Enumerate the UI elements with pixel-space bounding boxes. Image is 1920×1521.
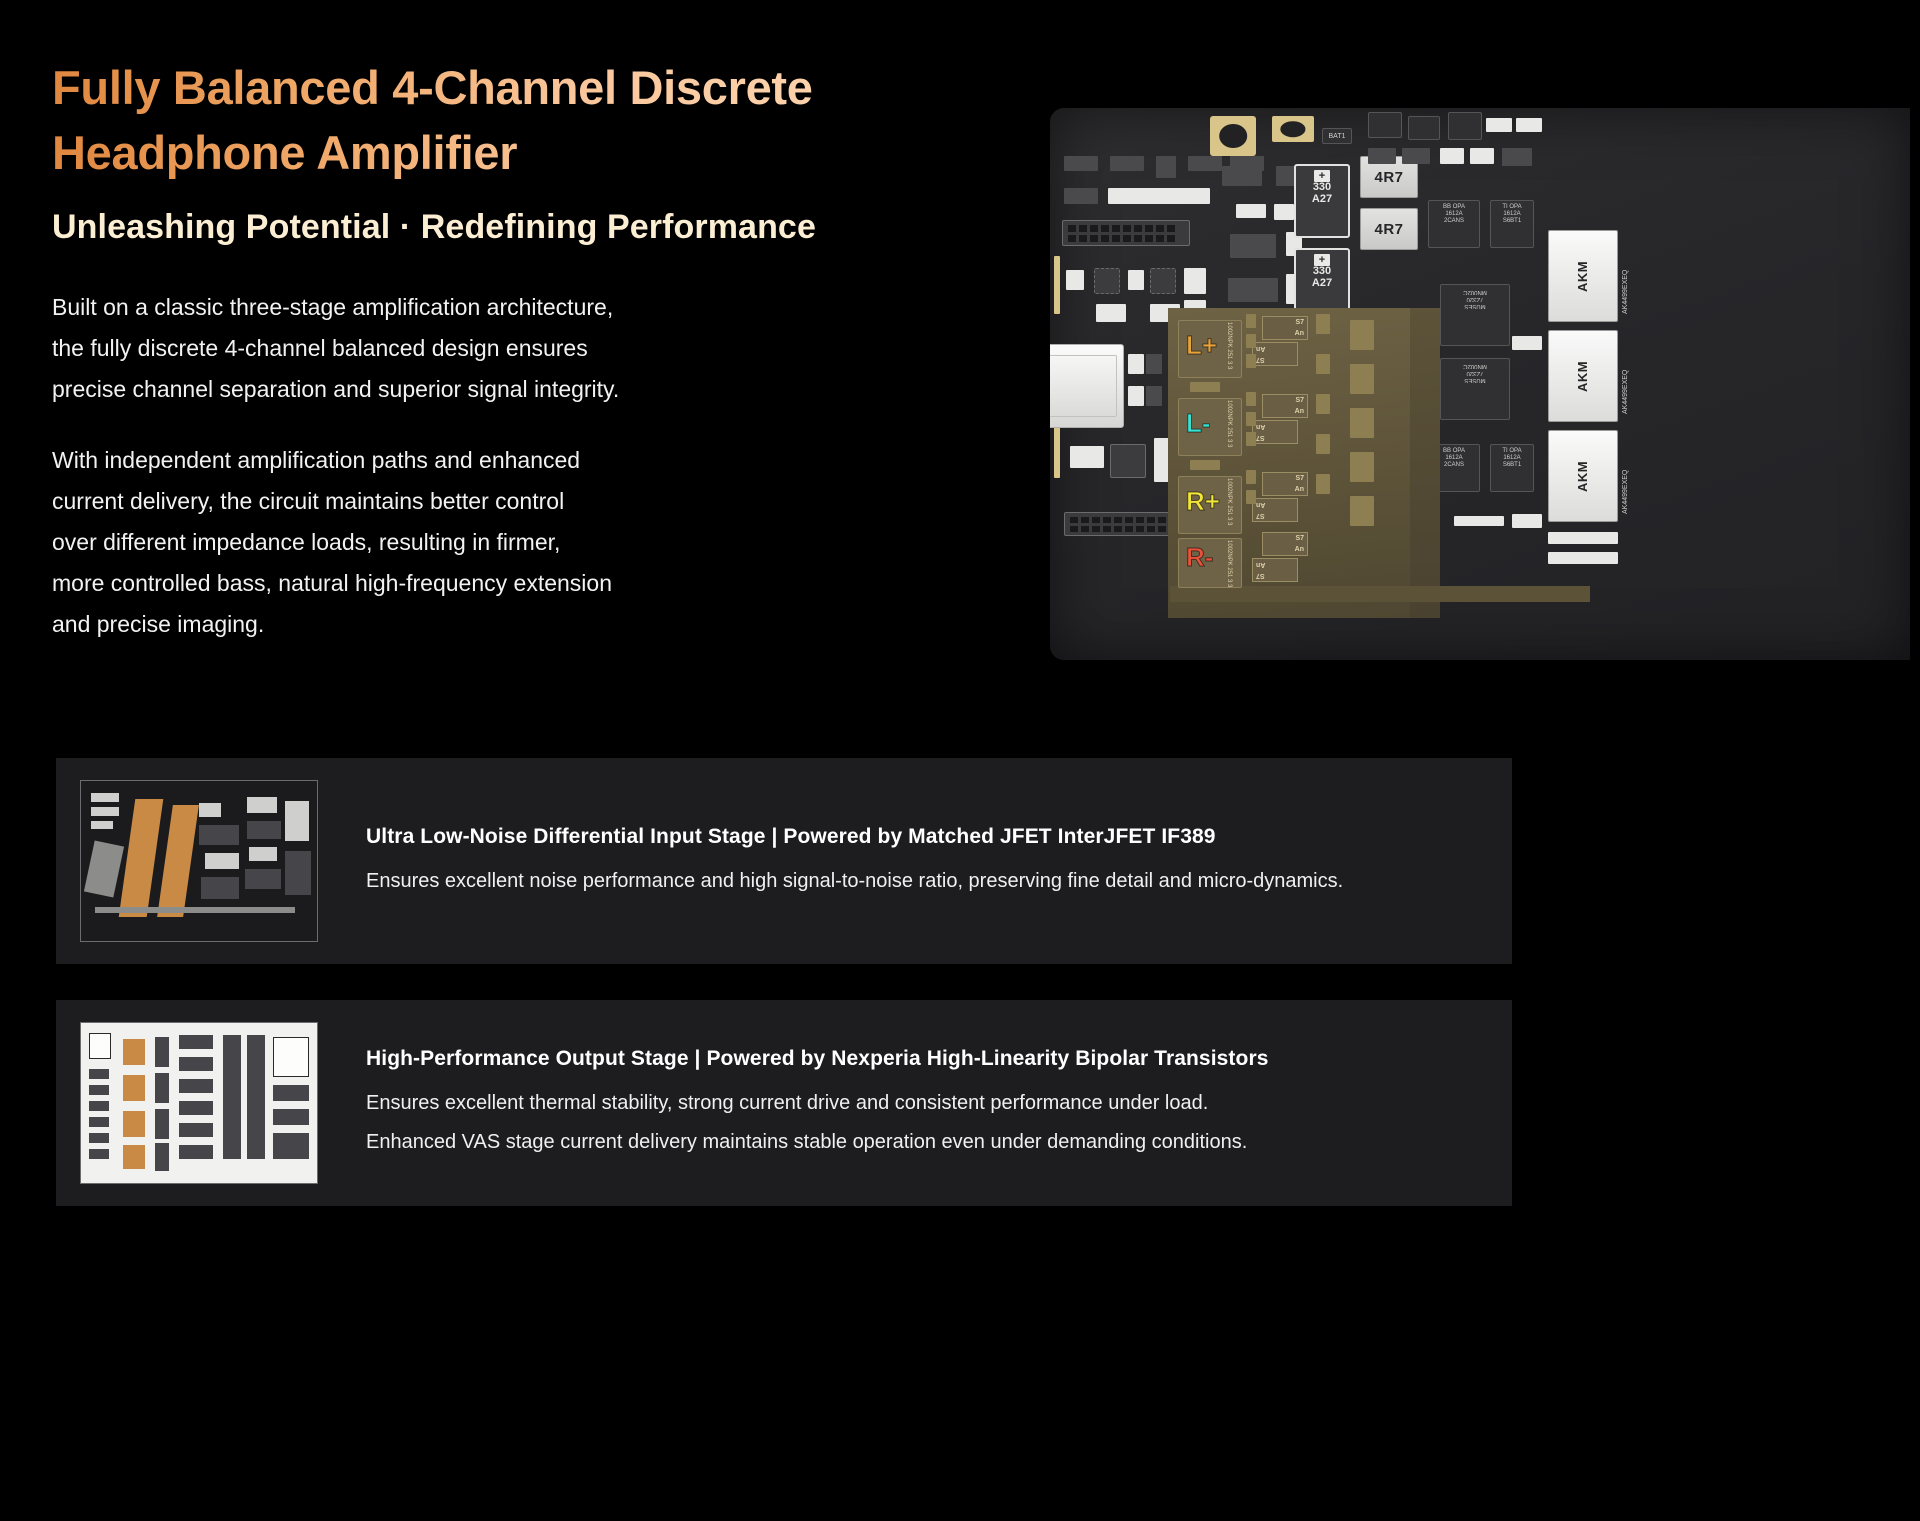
smd-component [1064,156,1098,171]
smd-passive [1246,334,1256,348]
smd-component [1470,148,1494,164]
battery-connector: BAT1 [1322,128,1352,144]
board-edge-connector [1512,514,1542,528]
smd-passive [1190,382,1220,392]
smd-passive [1246,314,1256,328]
dac-chip-akm: AKM [1548,330,1618,422]
smd-component [1128,354,1144,374]
amp-transistor-block: S7 An [1252,498,1298,522]
smd-component [1110,156,1144,171]
smd-passive [1246,470,1256,484]
capacitor-polarity-icon: + [1314,170,1330,182]
amp-block-top: S7 [1295,535,1304,542]
inductor: 4R7 [1360,208,1418,250]
capacitor-value: 330 [1296,266,1348,278]
smd-component [1440,148,1464,164]
opamp-chip: BB OPA 1612A 2CANS [1428,200,1480,248]
usbc-connector [1050,344,1124,428]
page-title: Fully Balanced 4-Channel Discrete Headph… [52,56,972,186]
smd-component [1146,354,1162,374]
hero-paragraph-1: Built on a classic three-stage amplifica… [52,287,972,410]
feature-card-line: Ensures excellent thermal stability, str… [366,1087,1269,1120]
smd-component [1516,118,1542,132]
muses-line2: 7Z320 [1441,295,1509,302]
amp-transistor-block: S7 An [1262,316,1308,340]
amp-block-top: S7 [1295,319,1304,326]
opamp-line1: BB OPA [1429,204,1479,211]
opamp-line2: 1612A [1491,211,1533,218]
muses-line1: MN002C [1441,362,1509,369]
amp-block-top: S7 [1256,572,1265,579]
feature-card-title: High-Performance Output Stage | Powered … [366,1047,1269,1071]
amp-block-top: S7 [1256,512,1265,519]
ic-chip [1094,268,1120,294]
board-edge-connector [1548,532,1618,544]
muses-line2: 7Z320 [1441,369,1509,376]
feature-card-input-stage: Ultra Low-Noise Differential Input Stage… [56,758,1512,964]
channel-label-l-minus: L- [1186,408,1211,439]
gold-trace [1054,256,1060,314]
muses-line1: MN002C [1441,288,1509,295]
transistor [1222,166,1262,186]
opamp-line3: S6BT1 [1491,462,1533,469]
dac-chip-akm: AKM [1548,230,1618,322]
dac-part-number: AK4499EXEQ [1622,338,1636,414]
smd-component [1486,118,1512,132]
capacitor-code: A27 [1296,278,1348,290]
dac-brand: AKM [1575,360,1590,391]
channel-chip-marking: 1002NPK 251 3 3 [1226,540,1232,587]
smd-component [1128,386,1144,406]
hero-description: Built on a classic three-stage amplifica… [52,287,972,645]
capacitor: + 330 A27 [1294,164,1350,238]
smd-component [1236,204,1266,218]
amp-block-top: S7 [1256,434,1265,441]
capacitor-polarity-icon: + [1314,254,1330,266]
feature-card-output-stage: High-Performance Output Stage | Powered … [56,1000,1512,1206]
smd-passive [1350,364,1374,394]
amp-block-bottom: An [1256,501,1265,508]
dac-part-number: AK4499EXEQ [1622,438,1636,514]
smd-passive [1190,460,1220,470]
ic-chip [1408,116,1440,140]
feature-cards: Ultra Low-Noise Differential Input Stage… [56,758,1920,1206]
channel-label-r-minus: R- [1186,542,1213,573]
amp-transistor-block: S7 An [1252,558,1298,582]
amp-block-bottom: An [1256,561,1265,568]
smd-passive [1246,432,1256,446]
smd-passive [1316,434,1330,454]
opamp-line2: 1612A [1491,455,1533,462]
board-edge-connector [1454,516,1504,526]
feature-card-body: Ultra Low-Noise Differential Input Stage… [318,825,1343,898]
amp-transistor-block: S7 An [1262,532,1308,556]
muses-line3: MUSES [1441,376,1509,383]
capacitor-code: A27 [1296,194,1348,206]
transistor [1230,234,1276,258]
product-feature-page: Fully Balanced 4-Channel Discrete Headph… [0,0,1920,1521]
ic-chip [1150,268,1176,294]
pcb-board-image: BAT1 [1050,108,1910,663]
smd-passive [1316,394,1330,414]
opamp-chip: TI OPA 1612A S6BT1 [1490,444,1534,492]
amp-block-bottom: An [1256,345,1265,352]
smd-component [1066,270,1084,290]
capacitor-value: 330 [1296,182,1348,194]
inductor-label: 4R7 [1374,221,1403,238]
feature-thumbnail-output-stage [80,1022,318,1184]
opamp-line3: 2CANS [1429,218,1479,225]
pcb-substrate: BAT1 [1050,108,1910,660]
hero-paragraph-2: With independent amplification paths and… [52,440,972,645]
ic-chip [1448,112,1482,140]
amp-transistor-block: S7 An [1252,420,1298,444]
inductor-label: 4R7 [1374,169,1403,186]
smd-component [1188,156,1222,171]
opamp-chip: TI OPA 1612A S6BT1 [1490,200,1534,248]
gold-ground-plane [1170,586,1590,602]
smd-passive [1246,392,1256,406]
dac-brand: AKM [1575,260,1590,291]
smd-passive [1316,354,1330,374]
dac-chip-akm: AKM [1548,430,1618,522]
channel-chip-marking: 1002NPK 251 3 3 [1226,400,1232,447]
smd-passive [1246,354,1256,368]
smd-component [1502,148,1532,166]
amp-block-bottom: An [1295,546,1304,553]
mounting-pad [1210,116,1256,156]
hero-text-block: Fully Balanced 4-Channel Discrete Headph… [52,56,972,645]
ic-chip [1110,444,1146,478]
smd-passive [1246,490,1256,504]
amp-block-bottom: An [1256,423,1265,430]
mounting-pad [1272,116,1314,142]
amp-block-bottom: An [1295,330,1304,337]
opamp-line2: 1612A [1429,211,1479,218]
bottom-pin-header-pins [1070,517,1177,532]
dac-part-number: AK4499EXEQ [1622,238,1636,314]
muses-line3: MUSES [1441,302,1509,309]
amp-block-top: S7 [1256,356,1265,363]
muses-chip: MN002C 7Z320 MUSES [1440,284,1510,346]
feature-thumbnail-input-stage [80,780,318,942]
opamp-line1: TI OPA [1491,204,1533,211]
smd-component [1128,270,1144,290]
amp-transistor-block: S7 An [1262,394,1308,418]
channel-chip-marking: 1002NPK 251 3 3 [1226,322,1232,369]
channel-label-r-plus: R+ [1186,486,1220,517]
smd-passive [1350,496,1374,526]
board-edge-connector [1548,552,1618,564]
smd-component [1070,446,1104,468]
channel-label-l-plus: L+ [1186,330,1217,361]
page-subtitle: Unleashing Potential · Redefining Perfor… [52,208,972,247]
board-edge-connector [1512,336,1542,350]
feature-card-body: High-Performance Output Stage | Powered … [318,1047,1269,1159]
opamp-line3: S6BT1 [1491,218,1533,225]
smd-component [1146,386,1162,406]
opamp-line1: TI OPA [1491,448,1533,455]
smd-component [1096,304,1126,322]
amp-block-bottom: An [1295,408,1304,415]
smd-component [1156,156,1176,178]
transistor [1228,278,1278,302]
smd-passive [1350,452,1374,482]
pin-header-pins [1068,225,1175,242]
feature-card-line: Ensures excellent noise performance and … [366,865,1343,898]
amp-block-top: S7 [1295,475,1304,482]
smd-passive [1350,408,1374,438]
smd-passive [1316,474,1330,494]
smd-component [1274,204,1294,220]
amp-transistor-block: S7 An [1262,472,1308,496]
muses-chip: MN002C 7Z320 MUSES [1440,358,1510,420]
amp-transistor-block: S7 An [1252,342,1298,366]
channel-chip-marking: 1002NPK 251 3 3 [1226,478,1232,525]
amp-block-bottom: An [1295,486,1304,493]
amplifier-section-extension [1410,308,1440,618]
amp-block-top: S7 [1295,397,1304,404]
feature-card-title: Ultra Low-Noise Differential Input Stage… [366,825,1343,849]
smd-passive [1350,320,1374,350]
ic-chip [1368,112,1402,138]
smd-component [1368,148,1396,164]
resistor-array [1108,188,1210,204]
smd-passive [1246,412,1256,426]
smd-component [1064,188,1098,204]
smd-component [1184,268,1206,294]
smd-component [1402,148,1430,164]
dac-brand: AKM [1575,460,1590,491]
feature-card-line: Enhanced VAS stage current delivery main… [366,1126,1269,1159]
smd-passive [1316,314,1330,334]
